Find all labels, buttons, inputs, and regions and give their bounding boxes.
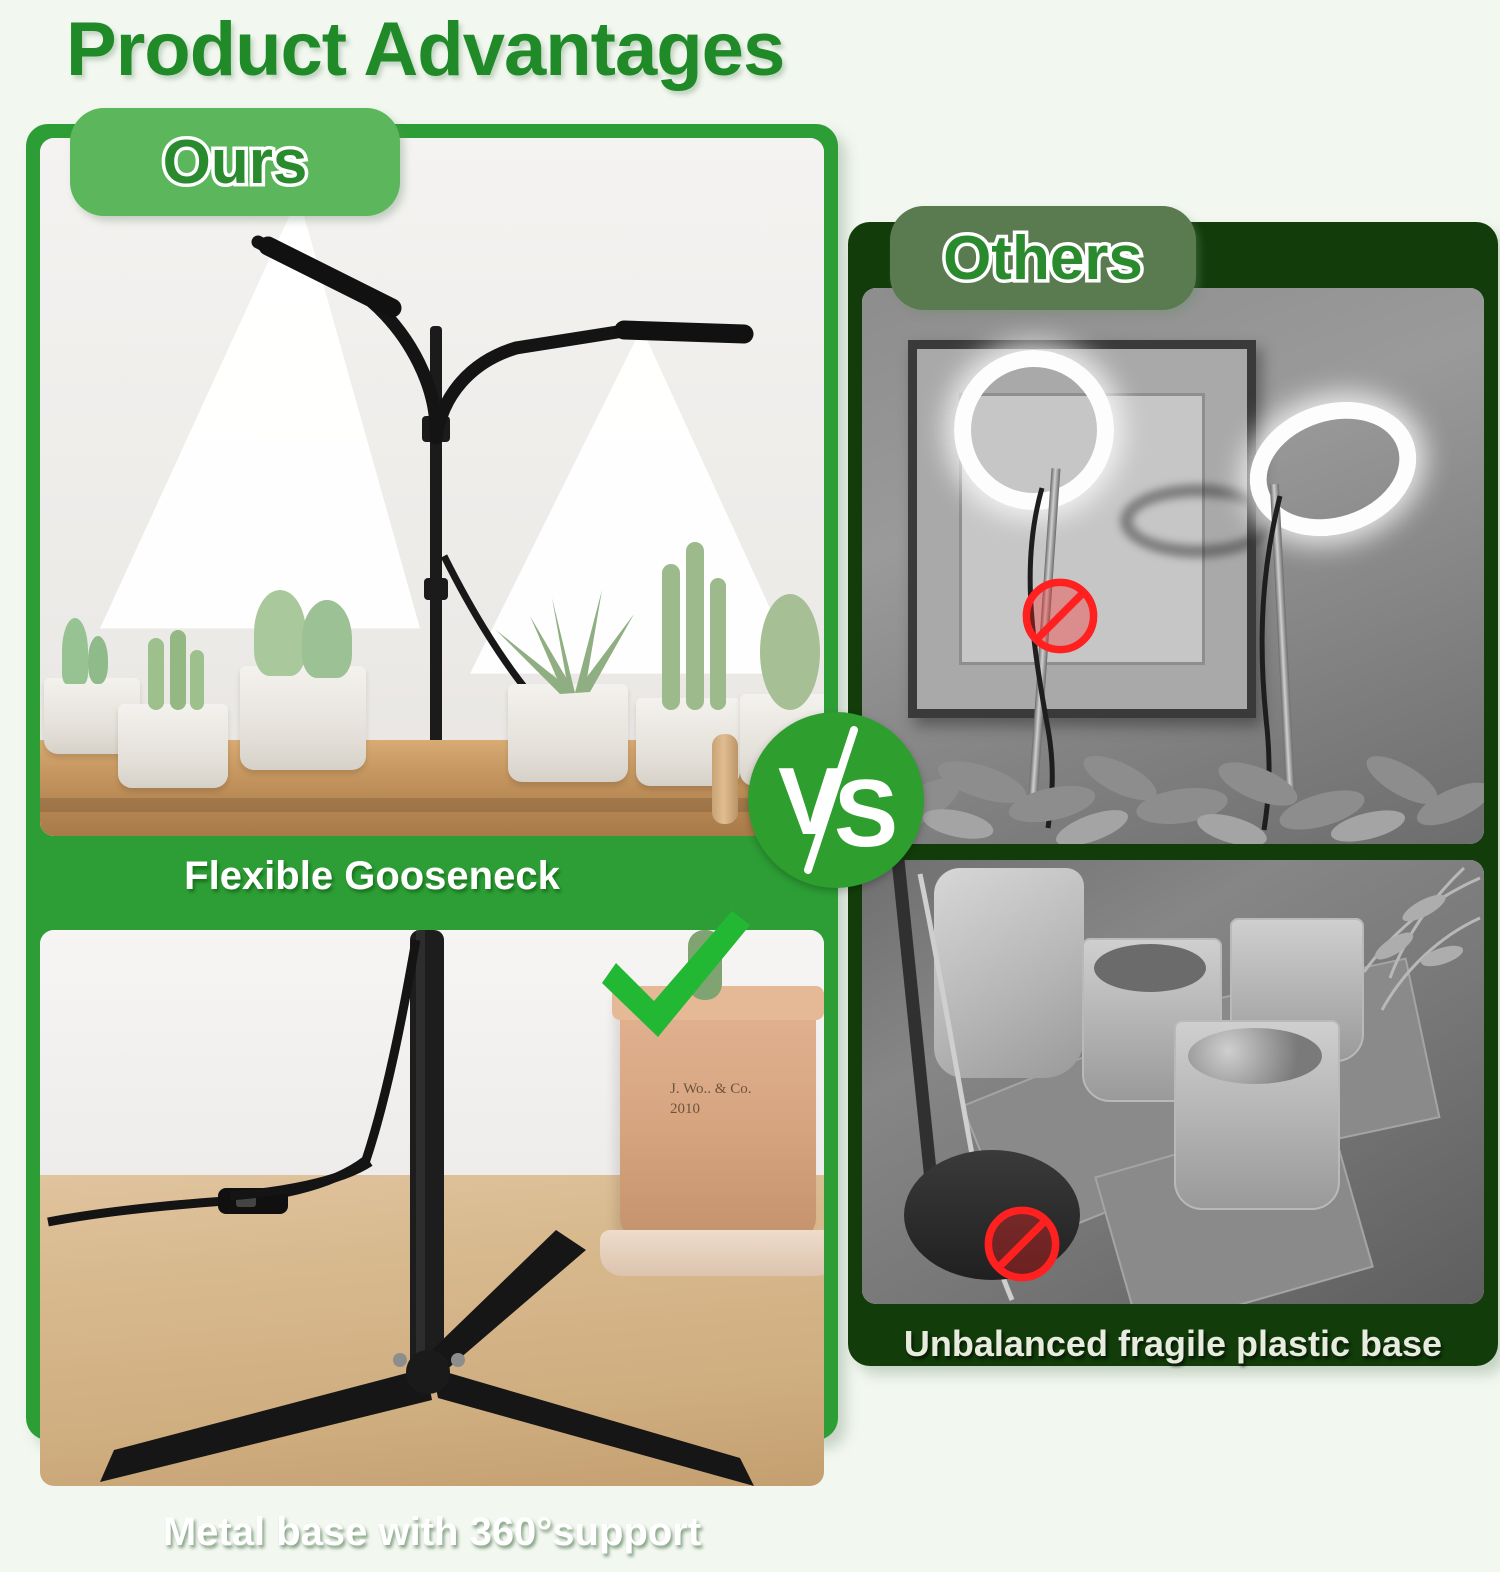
ours-caption-base: Metal base with 360°support [26, 1492, 838, 1572]
pot-3 [240, 666, 366, 770]
succulent-3b [302, 600, 352, 678]
cactus-tall [640, 534, 760, 714]
pot-4 [508, 684, 628, 782]
prohibit-icon [1018, 574, 1102, 658]
ours-panel: Flexible Gooseneck J. Wo.. & Co. 2010 [26, 124, 838, 1440]
ours-badge: Ours [70, 108, 400, 216]
wooden-dowel [712, 734, 738, 824]
cactus-2a [148, 638, 164, 710]
vs-letter-s: S [834, 760, 898, 867]
succulent-3a [254, 590, 306, 676]
plant-1 [62, 618, 88, 684]
prohibit-icon [980, 1202, 1064, 1286]
others-ringlight-photo [862, 288, 1484, 844]
others-panel: Inflexible Light Poles [848, 222, 1498, 1366]
cactus-2c [190, 650, 204, 710]
check-icon [590, 905, 760, 1055]
vs-badge: V S [748, 712, 924, 888]
agave-plant [490, 538, 660, 698]
cactus-2b [170, 630, 186, 710]
others-plasticbase-photo [862, 860, 1484, 1304]
others-badge: Others [890, 206, 1196, 310]
ours-gooseneck-photo [40, 138, 824, 836]
shelf-edge [40, 798, 824, 812]
vs-badge-graphic: V S [748, 712, 924, 888]
pot-2 [118, 704, 228, 788]
cactus-round [746, 590, 824, 710]
others-caption-base: Unbalanced fragile plastic base [848, 1314, 1498, 1374]
ours-caption-gooseneck: Flexible Gooseneck [26, 840, 838, 912]
plant-foliage [862, 654, 1484, 844]
others-badge-label: Others [943, 223, 1143, 294]
page-title: Product Advantages [66, 6, 784, 93]
plant-1b [88, 636, 108, 684]
ours-badge-label: Ours [163, 127, 308, 198]
